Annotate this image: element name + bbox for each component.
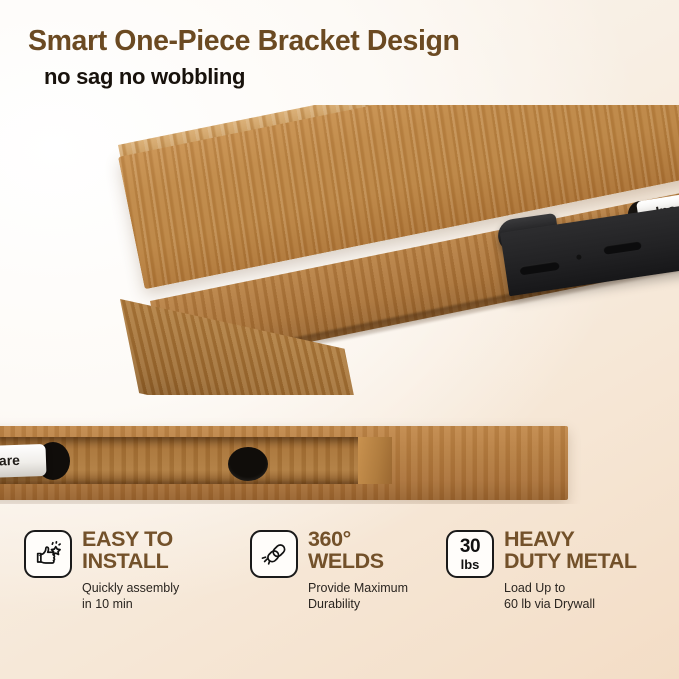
feature-easy-to-install: EASY TO INSTALL Quickly assembly in 10 m… — [24, 528, 242, 613]
feature-heavy-duty-metal: 30 lbs HEAVY DUTY METAL Load Up to 60 lb… — [446, 528, 672, 613]
feature-360-welds: 360° WELDS Provide Maximum Durability — [250, 528, 440, 613]
bracket-slot — [603, 240, 642, 255]
weight-capacity: 30 lbs — [460, 537, 480, 571]
bracket-slot — [519, 261, 560, 276]
feature-subtext: Provide Maximum Durability — [308, 580, 408, 614]
weight-number: 30 — [460, 537, 480, 556]
weight-unit: lbs — [461, 558, 480, 571]
feature-heading: 360° WELDS — [308, 528, 408, 573]
bracket-screw-hole — [576, 254, 582, 260]
feature-row: EASY TO INSTALL Quickly assembly in 10 m… — [0, 528, 679, 658]
hero-shelf-photo: Ins — [0, 105, 679, 395]
thumbs-up-icon — [24, 530, 72, 578]
hardware-label: ware — [0, 444, 47, 478]
hardware-label-text: ware — [0, 452, 20, 469]
weight-30lbs-icon: 30 lbs — [446, 530, 494, 578]
feature-subtext: Quickly assembly in 10 min — [82, 580, 179, 614]
feature-subtext: Load Up to 60 lb via Drywall — [504, 580, 637, 614]
weld-torch-icon — [250, 530, 298, 578]
feature-text: HEAVY DUTY METAL Load Up to 60 lb via Dr… — [504, 528, 637, 613]
feature-heading: EASY TO INSTALL — [82, 528, 179, 573]
page-subtitle: no sag no wobbling — [44, 65, 679, 89]
feature-text: EASY TO INSTALL Quickly assembly in 10 m… — [82, 528, 179, 613]
shelf-channel-photo: ware — [0, 418, 679, 504]
feature-heading: HEAVY DUTY METAL — [504, 528, 637, 573]
page-title: Smart One-Piece Bracket Design — [28, 26, 679, 58]
mounting-hole — [228, 447, 268, 481]
feature-text: 360° WELDS Provide Maximum Durability — [308, 528, 408, 613]
header: Smart One-Piece Bracket Design no sag no… — [0, 0, 679, 89]
shelf-channel-end — [358, 437, 392, 484]
product-infographic: Smart One-Piece Bracket Design no sag no… — [0, 0, 679, 679]
